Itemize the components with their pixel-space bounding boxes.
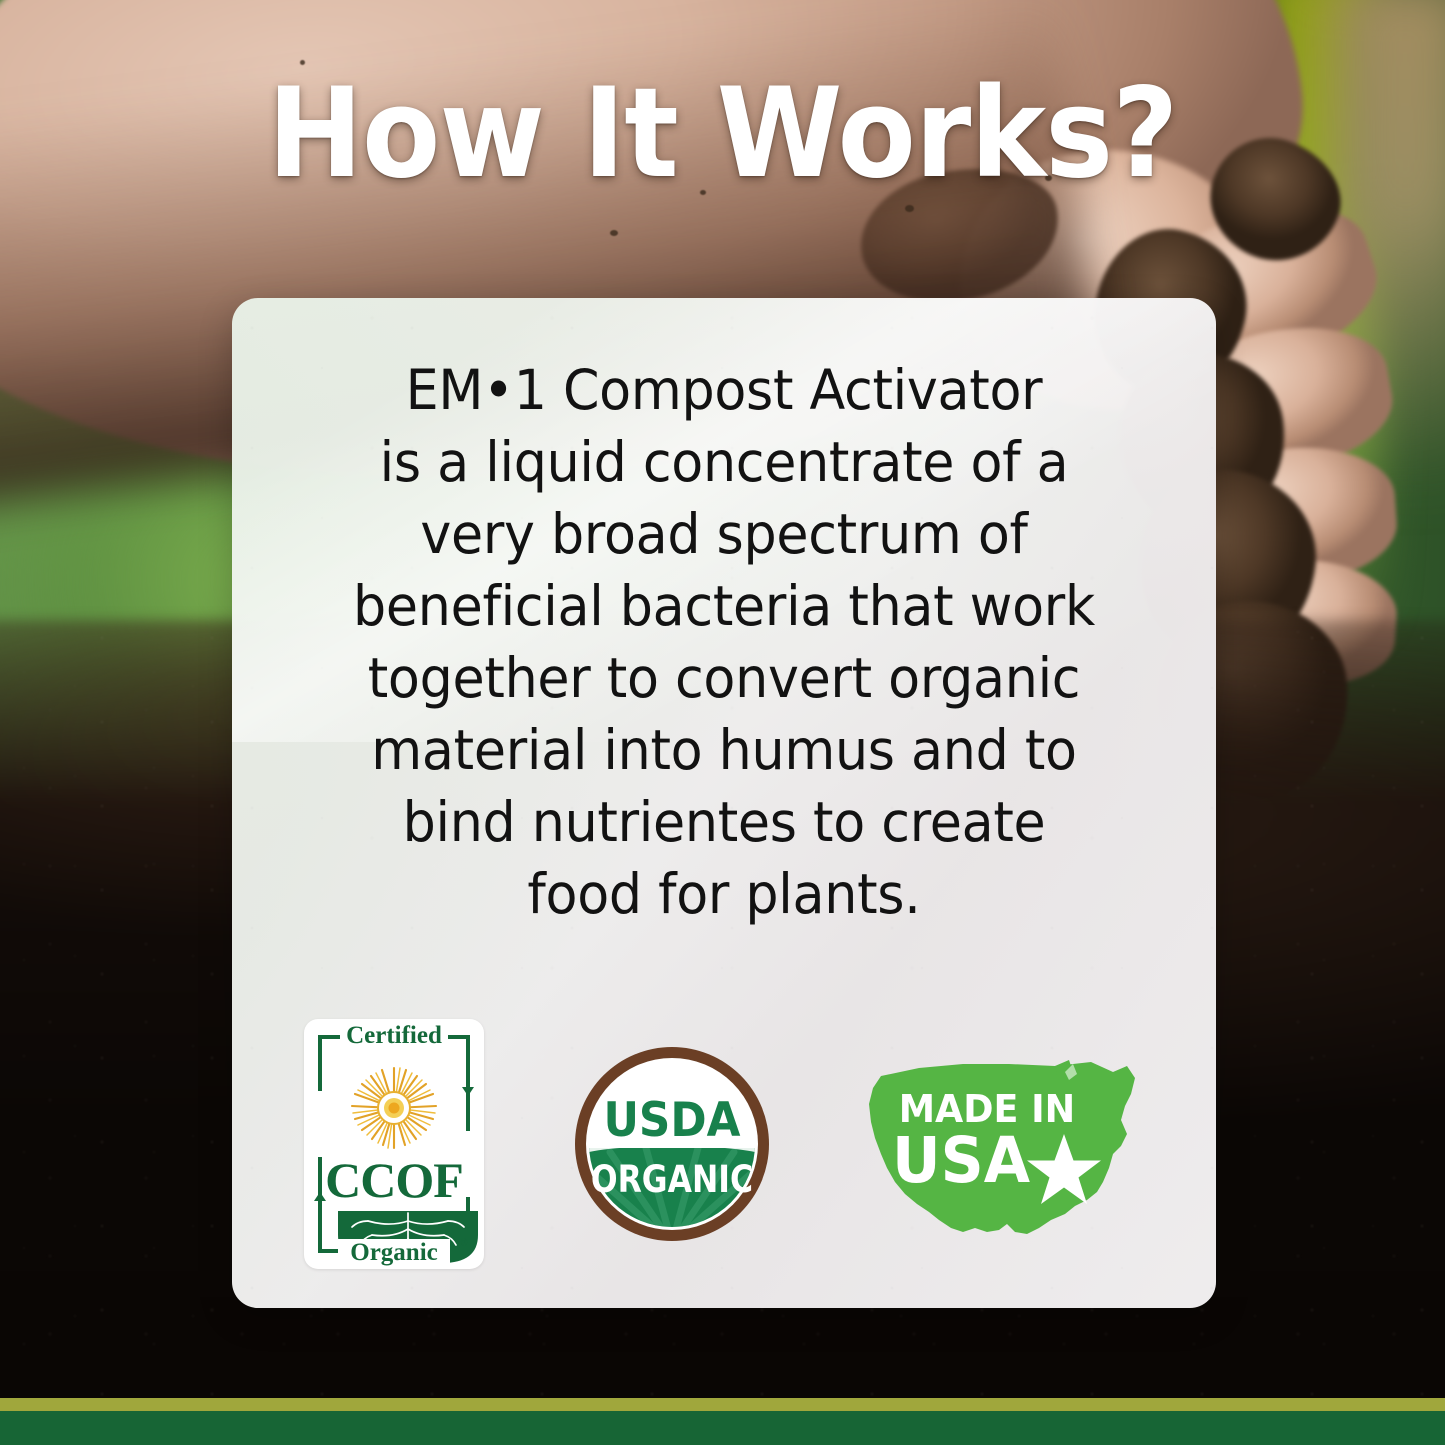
registered-trademark-icon: ® [460,1238,468,1249]
svg-text:ORGANIC: ORGANIC [590,1159,752,1202]
description-line: very broad spectrum of [298,498,1149,570]
page-title: How It Works? [58,72,1387,196]
content-card: EM•1 Compost Activator is a liquid conce… [232,298,1216,1308]
arrow-down-icon [462,1087,474,1096]
ccof-organic-label: Organic [338,1239,450,1267]
description-line: bind nutrientes to create [298,786,1149,858]
usa-map-icon: MADE IN USA [859,1042,1144,1247]
svg-text:USDA: USDA [603,1093,740,1148]
made-in-usa-seal: MADE IN USA MADE IN USA ★ [859,1042,1144,1247]
sunflower-icon [342,1065,446,1151]
description-line: EM•1 Compost Activator [298,354,1149,426]
dirt-speck [610,230,618,236]
certification-badge-row: Certified [304,1024,1144,1264]
usda-organic-seal: USDA ORGANIC USDA ORGANIC [572,1044,772,1244]
dirt-speck [905,205,914,212]
description-line: is a liquid concentrate of a [298,426,1149,498]
description-line: beneficial bacteria that work [298,570,1149,642]
footer-stripe-olive [0,1398,1445,1411]
ccof-organic-seal: Certified [304,1019,484,1269]
footer-stripe-green [0,1411,1445,1445]
usda-organic-icon: USDA ORGANIC [572,1044,772,1244]
ccof-seal-icon: Certified [318,1035,470,1253]
promo-image: How It Works? EM•1 Compost Activator is … [0,0,1445,1445]
description-line: material into humus and to [298,714,1149,786]
svg-text:USA: USA [892,1124,1030,1197]
product-description: EM•1 Compost Activator is a liquid conce… [298,354,1149,930]
description-line: food for plants. [298,858,1149,930]
ccof-certified-label: Certified [340,1022,448,1050]
ccof-acronym: CCOF [318,1155,470,1205]
description-line: together to convert organic [298,642,1149,714]
